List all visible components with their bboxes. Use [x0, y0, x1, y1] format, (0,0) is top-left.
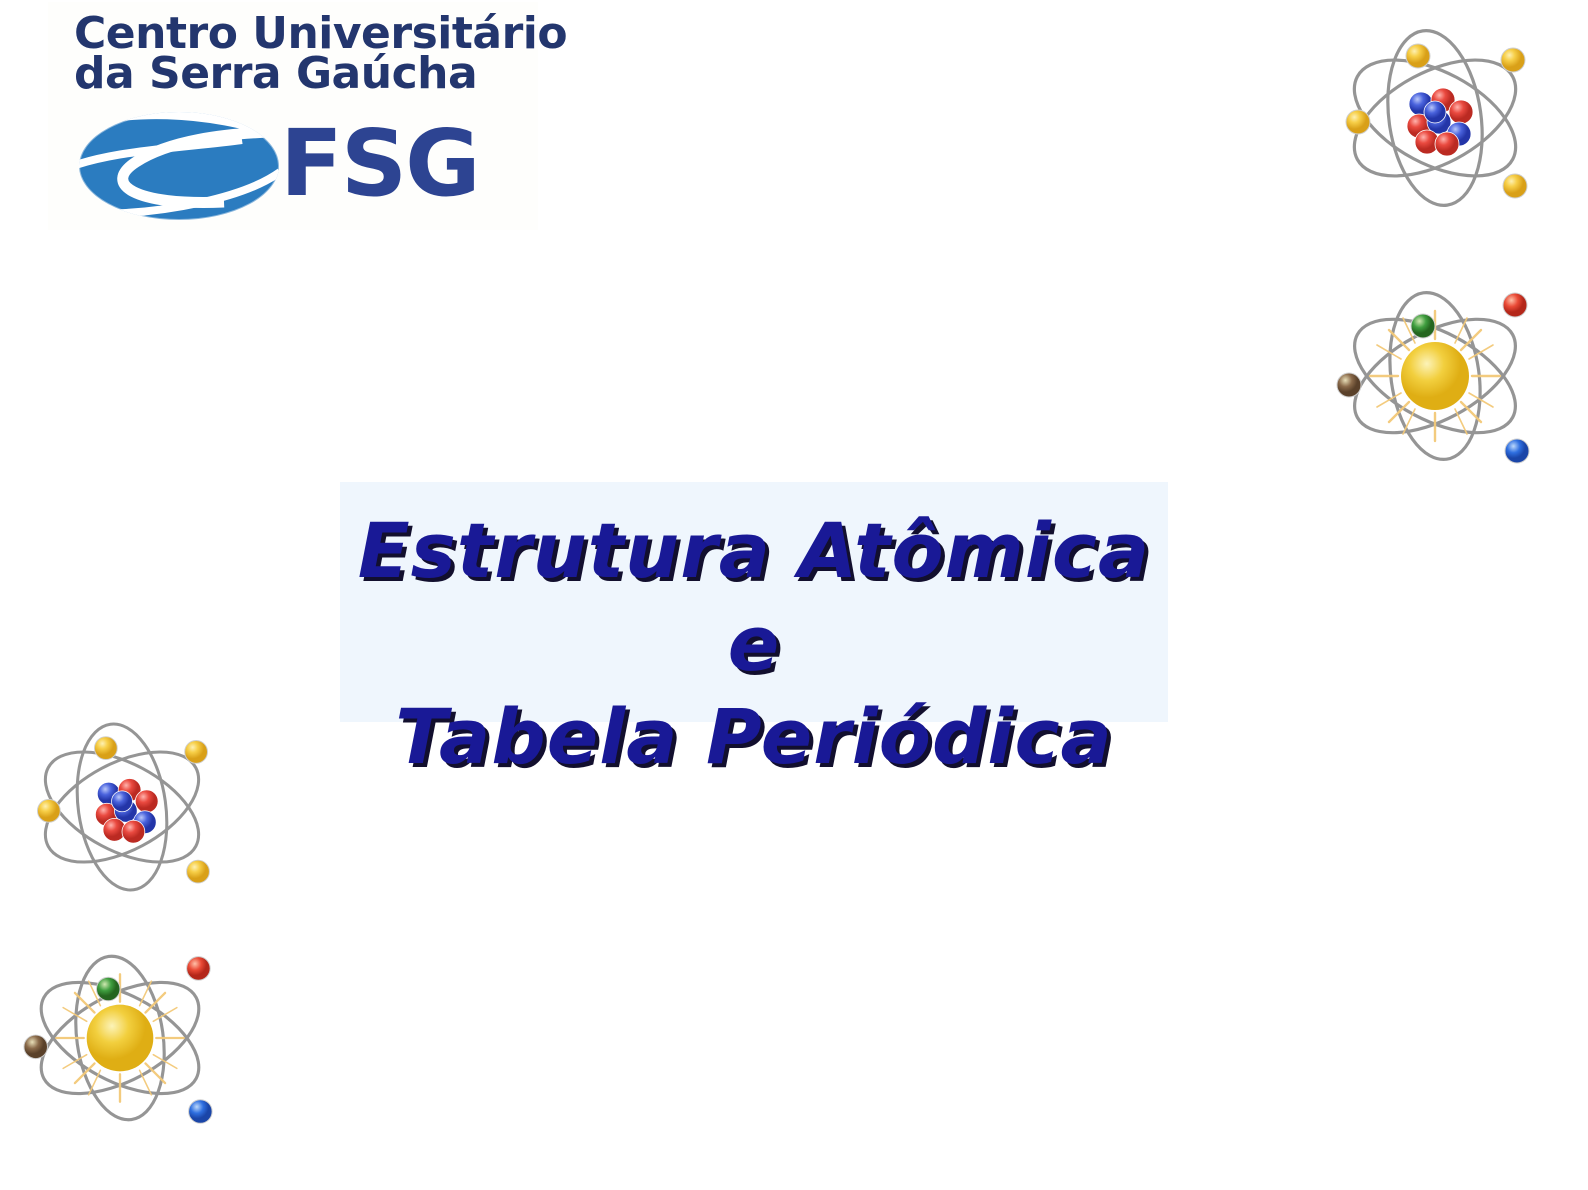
slide-title: Estrutura Atômica e Tabela Periódica [340, 504, 1168, 783]
presentation-title-slide: Centro Universitário da Serra Gaúcha FSG [0, 0, 1588, 1190]
atom-icon-nucleus-top-right [1334, 18, 1536, 218]
fsg-swirl-globe-icon [74, 110, 284, 222]
atom-icon-sun-bottom-left [22, 938, 218, 1138]
logo-line-da-serra-gaucha: da Serra Gaúcha [74, 48, 477, 99]
atom-icon-sun-top-right [1334, 283, 1536, 469]
slide-title-panel: Estrutura Atômica e Tabela Periódica [340, 482, 1168, 722]
logo-acronym-fsg: FSG [280, 112, 479, 216]
atom-icon-nucleus-bottom-left [26, 712, 218, 902]
fsg-university-logo: Centro Universitário da Serra Gaúcha FSG [48, 2, 538, 230]
